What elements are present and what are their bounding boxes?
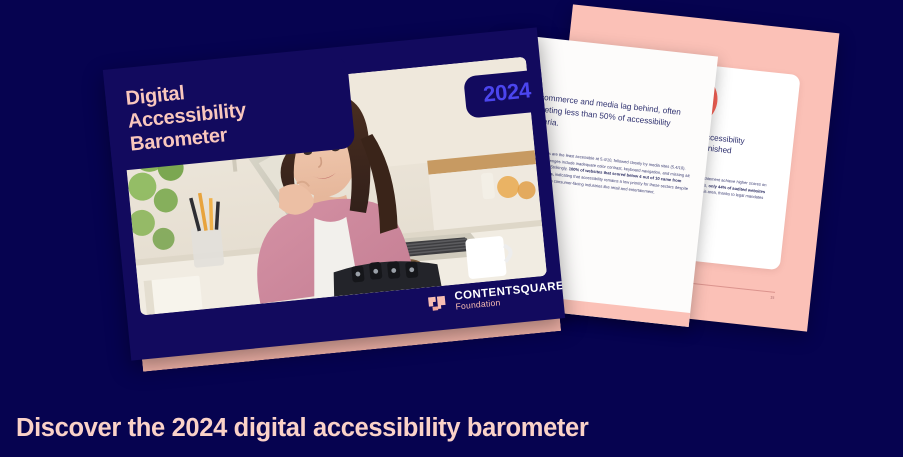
hero-banner: 56% 56% of websites don't display access… — [0, 0, 903, 457]
page-headline: Discover the 2024 digital accessibility … — [16, 414, 588, 443]
slide-deck-collage: 56% 56% of websites don't display access… — [0, 0, 903, 400]
contentsquare-logo-icon — [426, 293, 448, 315]
slide-middle-headline: Ecommerce and media lag behind, often me… — [531, 91, 696, 144]
slide-left-cover[interactable]: Digital Accessibility Barometer 2024 CON… — [103, 27, 565, 360]
cover-year-badge: 2024 — [463, 69, 548, 119]
cover-year-label: 2024 — [482, 77, 532, 107]
slide-footer-page: 15 — [770, 295, 775, 299]
contentsquare-logo-text: CONTENTSQUARE Foundation — [454, 280, 565, 313]
